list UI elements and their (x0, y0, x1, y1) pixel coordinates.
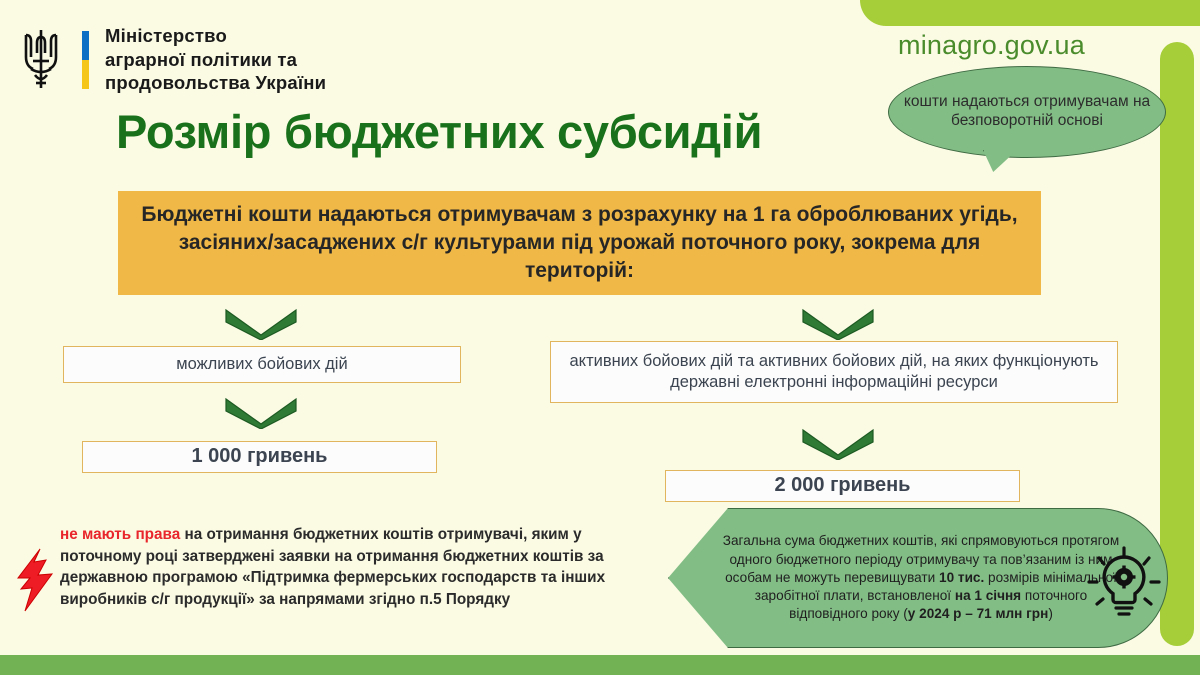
summary-part5: ) (1048, 606, 1053, 621)
warning-highlight: не мають права (60, 526, 180, 543)
warning-paragraph: не мають права на отримання бюджетних ко… (60, 524, 660, 611)
condition-text: активних бойових дій та активних бойових… (551, 347, 1117, 397)
amount-text: 1 000 гривень (180, 440, 340, 474)
ministry-name-line2: аграрної політики та (105, 48, 326, 72)
callout-bubble-text: кошти надаються отримувачам на безповоро… (889, 93, 1165, 131)
callout-bubble: кошти надаються отримувачам на безповоро… (888, 66, 1166, 158)
chevron-down-icon (224, 308, 298, 340)
callout-bubble-tail (983, 150, 1017, 172)
amount-text: 2 000 гривень (763, 469, 923, 503)
ministry-header: Міністерство аграрної політики та продов… (18, 24, 326, 95)
summary-bold3: у 2024 р – 71 млн грн (908, 606, 1049, 621)
ministry-name-line3: продовольства України (105, 71, 326, 95)
decorative-bottom-bar (0, 655, 1200, 675)
amount-box-2000: 2 000 гривень (665, 470, 1020, 502)
site-url[interactable]: minagro.gov.ua (898, 30, 1085, 61)
summary-part2: не можуть перевищувати (775, 570, 939, 585)
page-title: Розмір бюджетних субсидій (116, 104, 762, 159)
intro-banner-text: Бюджетні кошти надаються отримувачам з р… (118, 201, 1041, 284)
ministry-name-line1: Міністерство (105, 24, 326, 48)
lightbulb-gear-icon (1084, 544, 1164, 624)
amount-box-1000: 1 000 гривень (82, 441, 437, 473)
summary-bold2: на 1 січня (955, 588, 1021, 603)
ministry-name: Міністерство аграрної політики та продов… (105, 24, 326, 95)
condition-text: можливих бойових дій (164, 350, 359, 379)
summary-arrow-text: Загальна сума бюджетних коштів, які спря… (721, 532, 1121, 623)
tryzub-icon (18, 27, 64, 93)
summary-bold1: 10 тис. (939, 570, 984, 585)
condition-box-possible-combat: можливих бойових дій (63, 346, 461, 383)
intro-banner: Бюджетні кошти надаються отримувачам з р… (118, 191, 1041, 295)
decorative-right-bar (1160, 42, 1194, 646)
ukraine-flag-bar-icon (82, 31, 89, 89)
chevron-down-icon (801, 308, 875, 340)
lightning-bolt-icon (12, 548, 58, 612)
condition-box-active-combat: активних бойових дій та активних бойових… (550, 341, 1118, 403)
chevron-down-icon (801, 428, 875, 460)
decorative-top-bar (860, 0, 1200, 26)
chevron-down-icon (224, 397, 298, 429)
